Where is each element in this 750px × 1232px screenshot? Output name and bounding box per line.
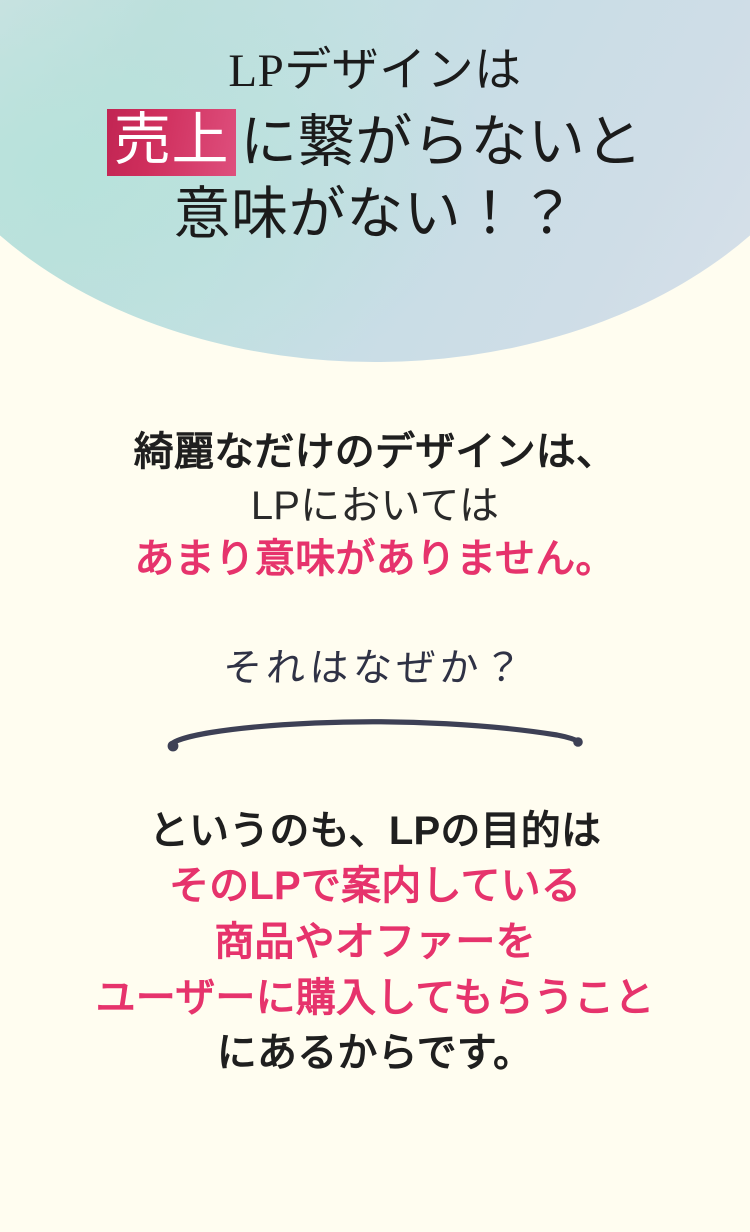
reason-line-4-emphasis: ユーザーに購入してもらうこと [0, 972, 750, 1026]
reason-line-1: というのも、LPの目的は [0, 805, 750, 859]
hero-headline-line-1: LPデザインは [0, 48, 750, 95]
handwritten-question-text: それはなぜか？ [222, 649, 527, 688]
hero-section: LPデザインは 売上に繋がらないと 意味がない！？ [0, 0, 750, 362]
hero-highlight-badge-uriage: 売上 [107, 109, 236, 176]
body-content: 綺麗なだけのデザインは、 LPにおいては あまり意味がありません。 それはなぜか… [0, 426, 750, 1081]
reason-line-5: にあるからです。 [0, 1027, 750, 1081]
hero-headline-line-2: 売上に繋がらないと [0, 109, 750, 176]
intro-paragraph: 綺麗なだけのデザインは、 LPにおいては あまり意味がありません。 [0, 426, 750, 587]
reason-line-3-emphasis: 商品やオファーを [0, 916, 750, 970]
hero-headline-line-2-rest: に繋がらないと [240, 114, 643, 171]
brush-underline-icon [165, 711, 585, 755]
hero-headline-group: LPデザインは 売上に繋がらないと 意味がない！？ [0, 0, 750, 362]
hero-headline-line-3: 意味がない！？ [0, 186, 750, 243]
question-block: それはなぜか？ [0, 649, 750, 759]
reason-line-2-emphasis: そのLPで案内している [0, 860, 750, 914]
intro-line-1: 綺麗なだけのデザインは、 [0, 426, 750, 480]
landing-page-section: LPデザインは 売上に繋がらないと 意味がない！？ 綺麗なだけのデザインは、 L… [0, 0, 750, 1232]
intro-line-3-emphasis: あまり意味がありません。 [0, 533, 750, 587]
reason-paragraph: というのも、LPの目的は そのLPで案内している 商品やオファーを ユーザーに購… [0, 805, 750, 1081]
intro-line-2: LPにおいては [0, 480, 750, 534]
